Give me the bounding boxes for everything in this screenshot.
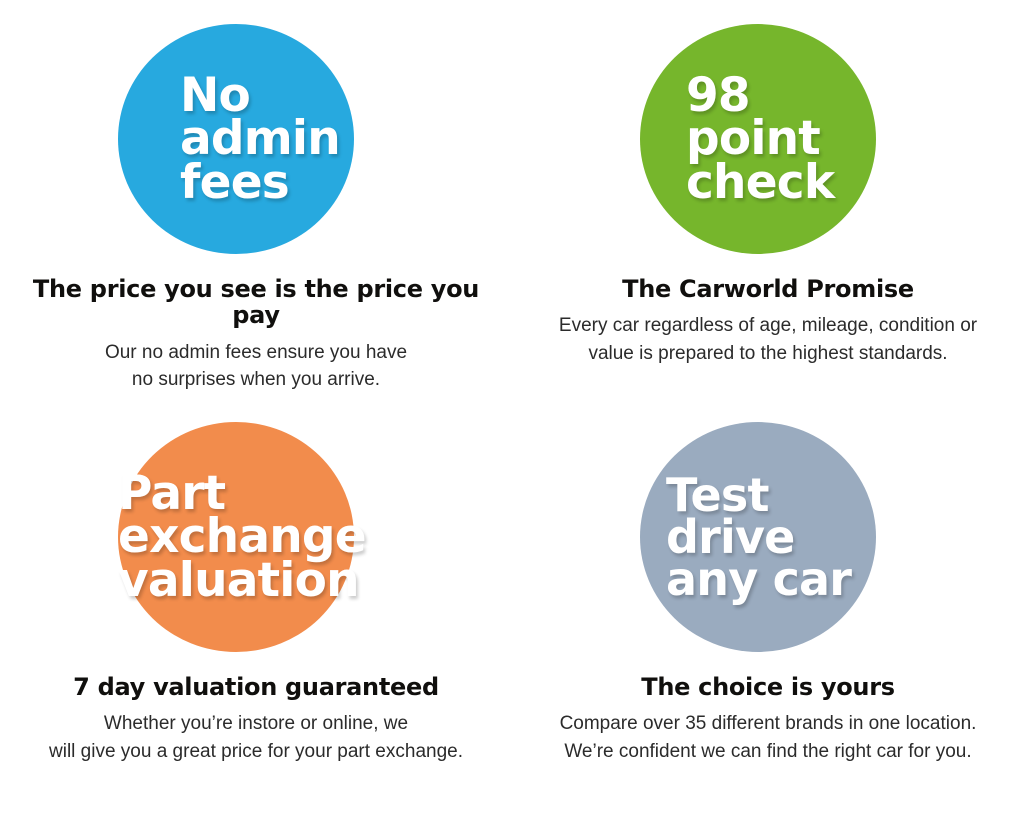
part-exchange-valuation-badge: Part exchange valuation (118, 422, 354, 652)
feature-body: Compare over 35 different brands in one … (538, 710, 999, 765)
feature-body: Our no admin fees ensure you have no sur… (83, 339, 429, 394)
feature-heading: The price you see is the price you pay (0, 276, 512, 329)
feature-body: Whether you’re instore or online, we wil… (27, 710, 485, 765)
features-grid: No admin fees The price you see is the p… (0, 0, 1024, 819)
98-point-check-badge: 98 point check (640, 24, 876, 254)
badge-label: Test drive any car (640, 474, 851, 601)
feature-card-98-point-check[interactable]: 98 point check The Carworld Promise Ever… (512, 0, 1024, 398)
feature-body: Every car regardless of age, mileage, co… (537, 312, 999, 367)
badge-label: No admin fees (118, 74, 340, 204)
no-admin-fees-badge: No admin fees (118, 24, 354, 254)
feature-heading: The choice is yours (631, 674, 904, 700)
feature-heading: The Carworld Promise (612, 276, 924, 302)
badge-label: 98 point check (640, 74, 834, 204)
feature-card-part-exchange-valuation[interactable]: Part exchange valuation 7 day valuation … (0, 398, 512, 796)
feature-card-test-drive-any-car[interactable]: Test drive any car The choice is yours C… (512, 398, 1024, 796)
feature-card-no-admin-fees[interactable]: No admin fees The price you see is the p… (0, 0, 512, 398)
badge-label: Part exchange valuation (110, 472, 366, 602)
test-drive-any-car-badge: Test drive any car (640, 422, 876, 652)
feature-heading: 7 day valuation guaranteed (63, 674, 449, 700)
